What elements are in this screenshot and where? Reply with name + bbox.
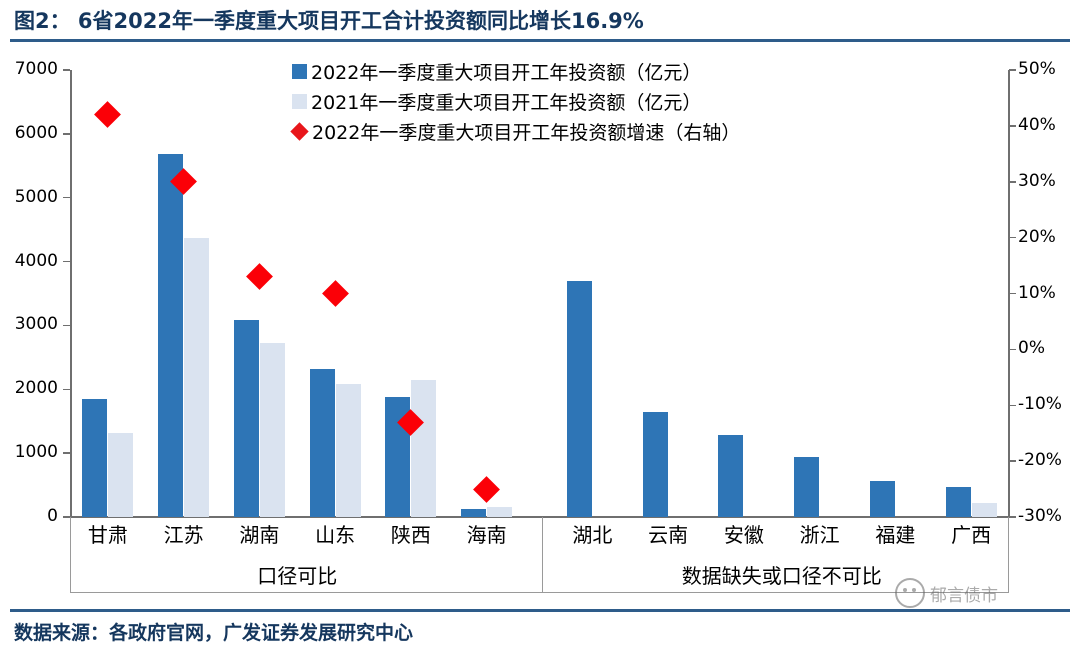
- right-axis-tick: [1009, 405, 1016, 407]
- page-title: 图2： 6省2022年一季度重大项目开工合计投资额同比增长16.9%: [0, 5, 644, 35]
- right-axis-tick-label: 10%: [1018, 285, 1076, 302]
- right-axis-tick-label: 30%: [1018, 173, 1076, 190]
- watermark-label: 郁言债市: [930, 581, 998, 606]
- footer-divider: [10, 609, 1070, 612]
- bar-2022: [794, 457, 819, 517]
- group-label-comparable: 口径可比: [70, 560, 525, 589]
- title-divider: [10, 39, 1070, 42]
- left-axis-tick: [63, 197, 70, 199]
- left-axis-tick: [63, 516, 70, 518]
- growth-marker-diamond-icon: [322, 280, 349, 307]
- watermark-face-icon: [895, 578, 925, 608]
- bar-2021: [260, 343, 285, 517]
- left-axis-tick-label: 1000: [0, 444, 58, 461]
- left-axis-tick-label: 4000: [0, 253, 58, 270]
- right-axis-tick: [1009, 69, 1016, 71]
- bar-2022: [158, 154, 183, 517]
- bar-2022: [310, 369, 335, 517]
- right-axis-tick-label: 20%: [1018, 229, 1076, 246]
- left-axis-tick: [63, 261, 70, 263]
- bar-2022: [718, 435, 743, 517]
- group-baseline: [70, 592, 1009, 593]
- x-axis-category-labels: 甘肃江苏湖南山东陕西海南湖北云南安徽浙江福建广西: [0, 519, 1080, 559]
- bar-2022: [82, 399, 107, 517]
- right-axis-tick: [1009, 293, 1016, 295]
- bar-2021: [972, 503, 997, 517]
- right-axis-tick-label: -20%: [1018, 452, 1076, 469]
- bar-2021: [108, 433, 133, 517]
- watermark: 郁言债市: [895, 578, 998, 608]
- left-axis-tick: [63, 452, 70, 454]
- x-axis-label-5: 海南: [437, 519, 537, 548]
- source-note: 数据来源：各政府官网，广发证券发展研究中心: [14, 618, 413, 645]
- right-axis-tick: [1009, 460, 1016, 462]
- bar-2021: [411, 380, 436, 517]
- chart-title-bar: 图2： 6省2022年一季度重大项目开工合计投资额同比增长16.9%: [0, 0, 1080, 40]
- left-axis-tick-label: 5000: [0, 189, 58, 206]
- left-axis-tick-label: 6000: [0, 125, 58, 142]
- right-axis-tick-label: 50%: [1018, 61, 1076, 78]
- right-axis-tick-label: 0%: [1018, 340, 1076, 357]
- bar-2022: [234, 320, 259, 517]
- left-axis-tick: [63, 325, 70, 327]
- right-axis-tick-label: -10%: [1018, 396, 1076, 413]
- right-axis-tick: [1009, 516, 1016, 518]
- bar-2022: [870, 481, 895, 517]
- bar-2021: [487, 507, 512, 517]
- chart-plot-area: 70006000500040003000200010000 50%40%30%2…: [0, 46, 1080, 591]
- left-axis-tick-label: 2000: [0, 380, 58, 397]
- growth-marker-diamond-icon: [473, 476, 500, 503]
- right-axis-tick: [1009, 125, 1016, 127]
- growth-marker-diamond-icon: [94, 101, 121, 128]
- left-axis-tick: [63, 133, 70, 135]
- group-separator-middle: [542, 517, 543, 593]
- bar-2022: [946, 487, 971, 517]
- bar-2022: [461, 509, 486, 517]
- right-axis-tick: [1009, 237, 1016, 239]
- bar-2021: [336, 384, 361, 517]
- right-axis-tick-label: 40%: [1018, 117, 1076, 134]
- bar-2022: [643, 412, 668, 517]
- x-axis-label-11: 广西: [921, 519, 1021, 548]
- bar-2021: [184, 238, 209, 517]
- left-axis-tick: [63, 389, 70, 391]
- right-axis-tick: [1009, 349, 1016, 351]
- left-axis-tick-label: 3000: [0, 316, 58, 333]
- bar-2022: [567, 281, 592, 517]
- right-axis-tick: [1009, 181, 1016, 183]
- left-axis-tick-label: 7000: [0, 61, 58, 78]
- chart-bars-layer: [70, 70, 1009, 517]
- left-axis-tick: [63, 69, 70, 71]
- growth-marker-diamond-icon: [246, 263, 273, 290]
